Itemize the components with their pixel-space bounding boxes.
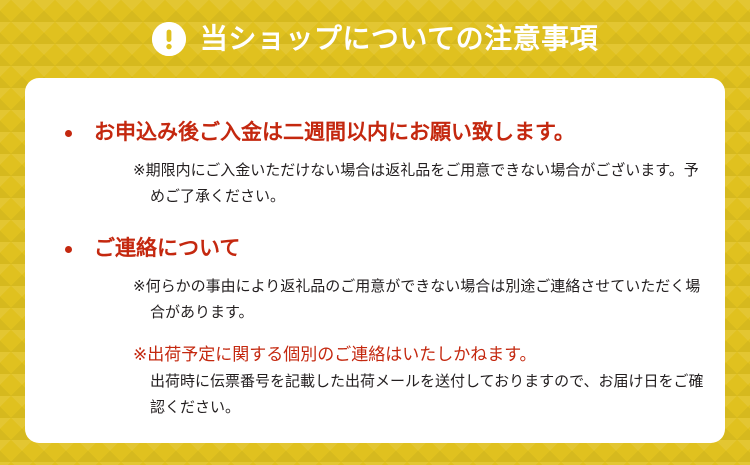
- notice-heading-label: お申込み後ご入金は二週間以内にお願い致します。: [94, 120, 575, 146]
- notice-heading-label: ご連絡について: [94, 236, 240, 262]
- notice-heading: お申込み後ご入金は二週間以内にお願い致します。: [45, 120, 705, 146]
- bullet-dot-icon: [65, 130, 72, 137]
- notice-heading: ご連絡について: [45, 236, 705, 262]
- exclamation-circle-icon: [152, 22, 186, 56]
- notice-item-contact: ご連絡について ※何らかの事由により返礼品のご用意ができない場合は別途ご連絡させ…: [45, 236, 705, 421]
- notice-card: お申込み後ご入金は二週間以内にお願い致します。 ※期限内にご入金いただけない場合…: [25, 78, 725, 443]
- notice-body-text: ※何らかの事由により返礼品のご用意ができない場合は別途ご連絡させていただく場合が…: [133, 274, 705, 326]
- notice-item-payment: お申込み後ご入金は二週間以内にお願い致します。 ※期限内にご入金いただけない場合…: [45, 120, 705, 210]
- bullet-dot-icon: [65, 246, 72, 253]
- page-title: 当ショップについての注意事項: [200, 25, 598, 53]
- notice-banner: 当ショップについての注意事項 お申込み後ご入金は二週間以内にお願い致します。 ※…: [0, 0, 750, 465]
- notice-body-text: ※期限内にご入金いただけない場合は返礼品をご用意できない場合がございます。予めご…: [133, 158, 705, 210]
- notice-body-highlight: ※出荷予定に関する個別のご連絡はいたしかねます。: [133, 342, 705, 368]
- banner-header: 当ショップについての注意事項: [0, 0, 750, 78]
- notice-body-detail: 出荷時に伝票番号を記載した出荷メールを送付しておりますので、お届け日をご確認くだ…: [133, 369, 705, 421]
